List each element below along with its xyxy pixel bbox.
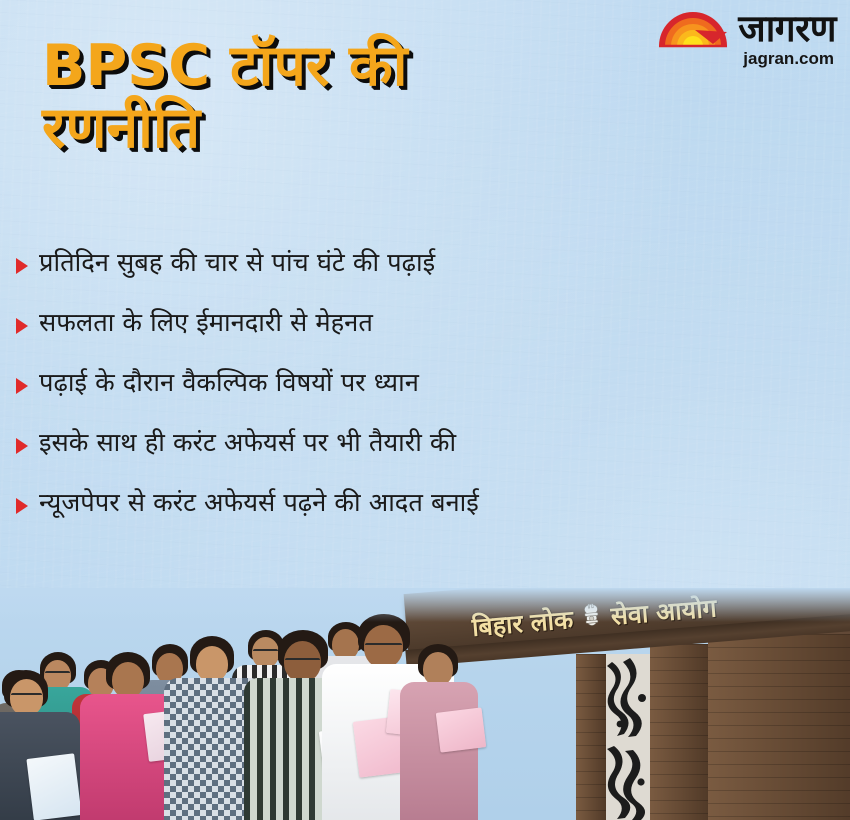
- person: [404, 644, 474, 820]
- sign-word-bihar: बिहार: [471, 606, 524, 644]
- logo-row: जागरण: [657, 10, 836, 48]
- list-item-label: प्रतिदिन सुबह की चार से पांच घंटे की पढ़…: [39, 248, 435, 279]
- photo-bpsc-candidates: बिहार लोक सेवा आयोग: [0, 588, 850, 820]
- page-title: BPSC टॉपर की रणनीति: [42, 36, 652, 159]
- red-triangle-bullet-icon: [16, 438, 28, 454]
- list-item-label: इसके साथ ही करंट अफेयर्स पर भी तैयारी की: [39, 428, 456, 459]
- document-paper: [26, 753, 81, 820]
- list-item-label: सफलता के लिए ईमानदारी से मेहनत: [39, 308, 373, 339]
- list-item: सफलता के लिए ईमानदारी से मेहनत: [16, 308, 816, 339]
- title-line-1: BPSC टॉपर की: [42, 36, 652, 98]
- list-item: पढ़ाई के दौरान वैकल्पिक विषयों पर ध्यान: [16, 368, 816, 399]
- gate-pillar-lattice: [606, 654, 650, 820]
- sign-word-sewa: सेवा: [610, 596, 650, 633]
- list-item: न्यूजपेपर से करंट अफेयर्स पढ़ने की आदत ब…: [16, 488, 816, 519]
- red-triangle-bullet-icon: [16, 378, 28, 394]
- red-triangle-bullet-icon: [16, 498, 28, 514]
- title-line-2: रणनीति: [42, 98, 652, 160]
- brand-name: जागरण: [738, 11, 836, 46]
- list-item-label: न्यूजपेपर से करंट अफेयर्स पढ़ने की आदत ब…: [39, 488, 479, 519]
- gate-pillar-wood-mid: [650, 644, 708, 820]
- document-paper: [436, 707, 487, 752]
- jagran-sunrise-icon: [657, 10, 729, 48]
- decorative-lattice-icon: [606, 654, 650, 820]
- jagran-brand-logo[interactable]: जागरण jagran.com: [657, 10, 836, 69]
- list-item: इसके साथ ही करंट अफेयर्स पर भी तैयारी की: [16, 428, 816, 459]
- sign-word-aayog: आयोग: [655, 590, 718, 629]
- list-item-label: पढ़ाई के दौरान वैकल्पिक विषयों पर ध्यान: [39, 368, 419, 399]
- person: [84, 652, 176, 820]
- red-triangle-bullet-icon: [16, 258, 28, 274]
- sign-word-lok: लोक: [529, 602, 574, 639]
- ashoka-lion-capital-emblem-icon: [580, 602, 604, 634]
- brand-url[interactable]: jagran.com: [743, 49, 834, 69]
- gate-pillar-wood-left: [576, 654, 606, 820]
- list-item: प्रतिदिन सुबह की चार से पांच घंटे की पढ़…: [16, 248, 816, 279]
- gate-pillar-wood-right: [708, 634, 850, 820]
- candidates-crowd: [0, 588, 470, 820]
- poster-canvas: जागरण jagran.com BPSC टॉपर की रणनीति प्र…: [0, 0, 850, 820]
- person: [0, 670, 74, 820]
- red-triangle-bullet-icon: [16, 318, 28, 334]
- strategy-list: प्रतिदिन सुबह की चार से पांच घंटे की पढ़…: [16, 248, 816, 549]
